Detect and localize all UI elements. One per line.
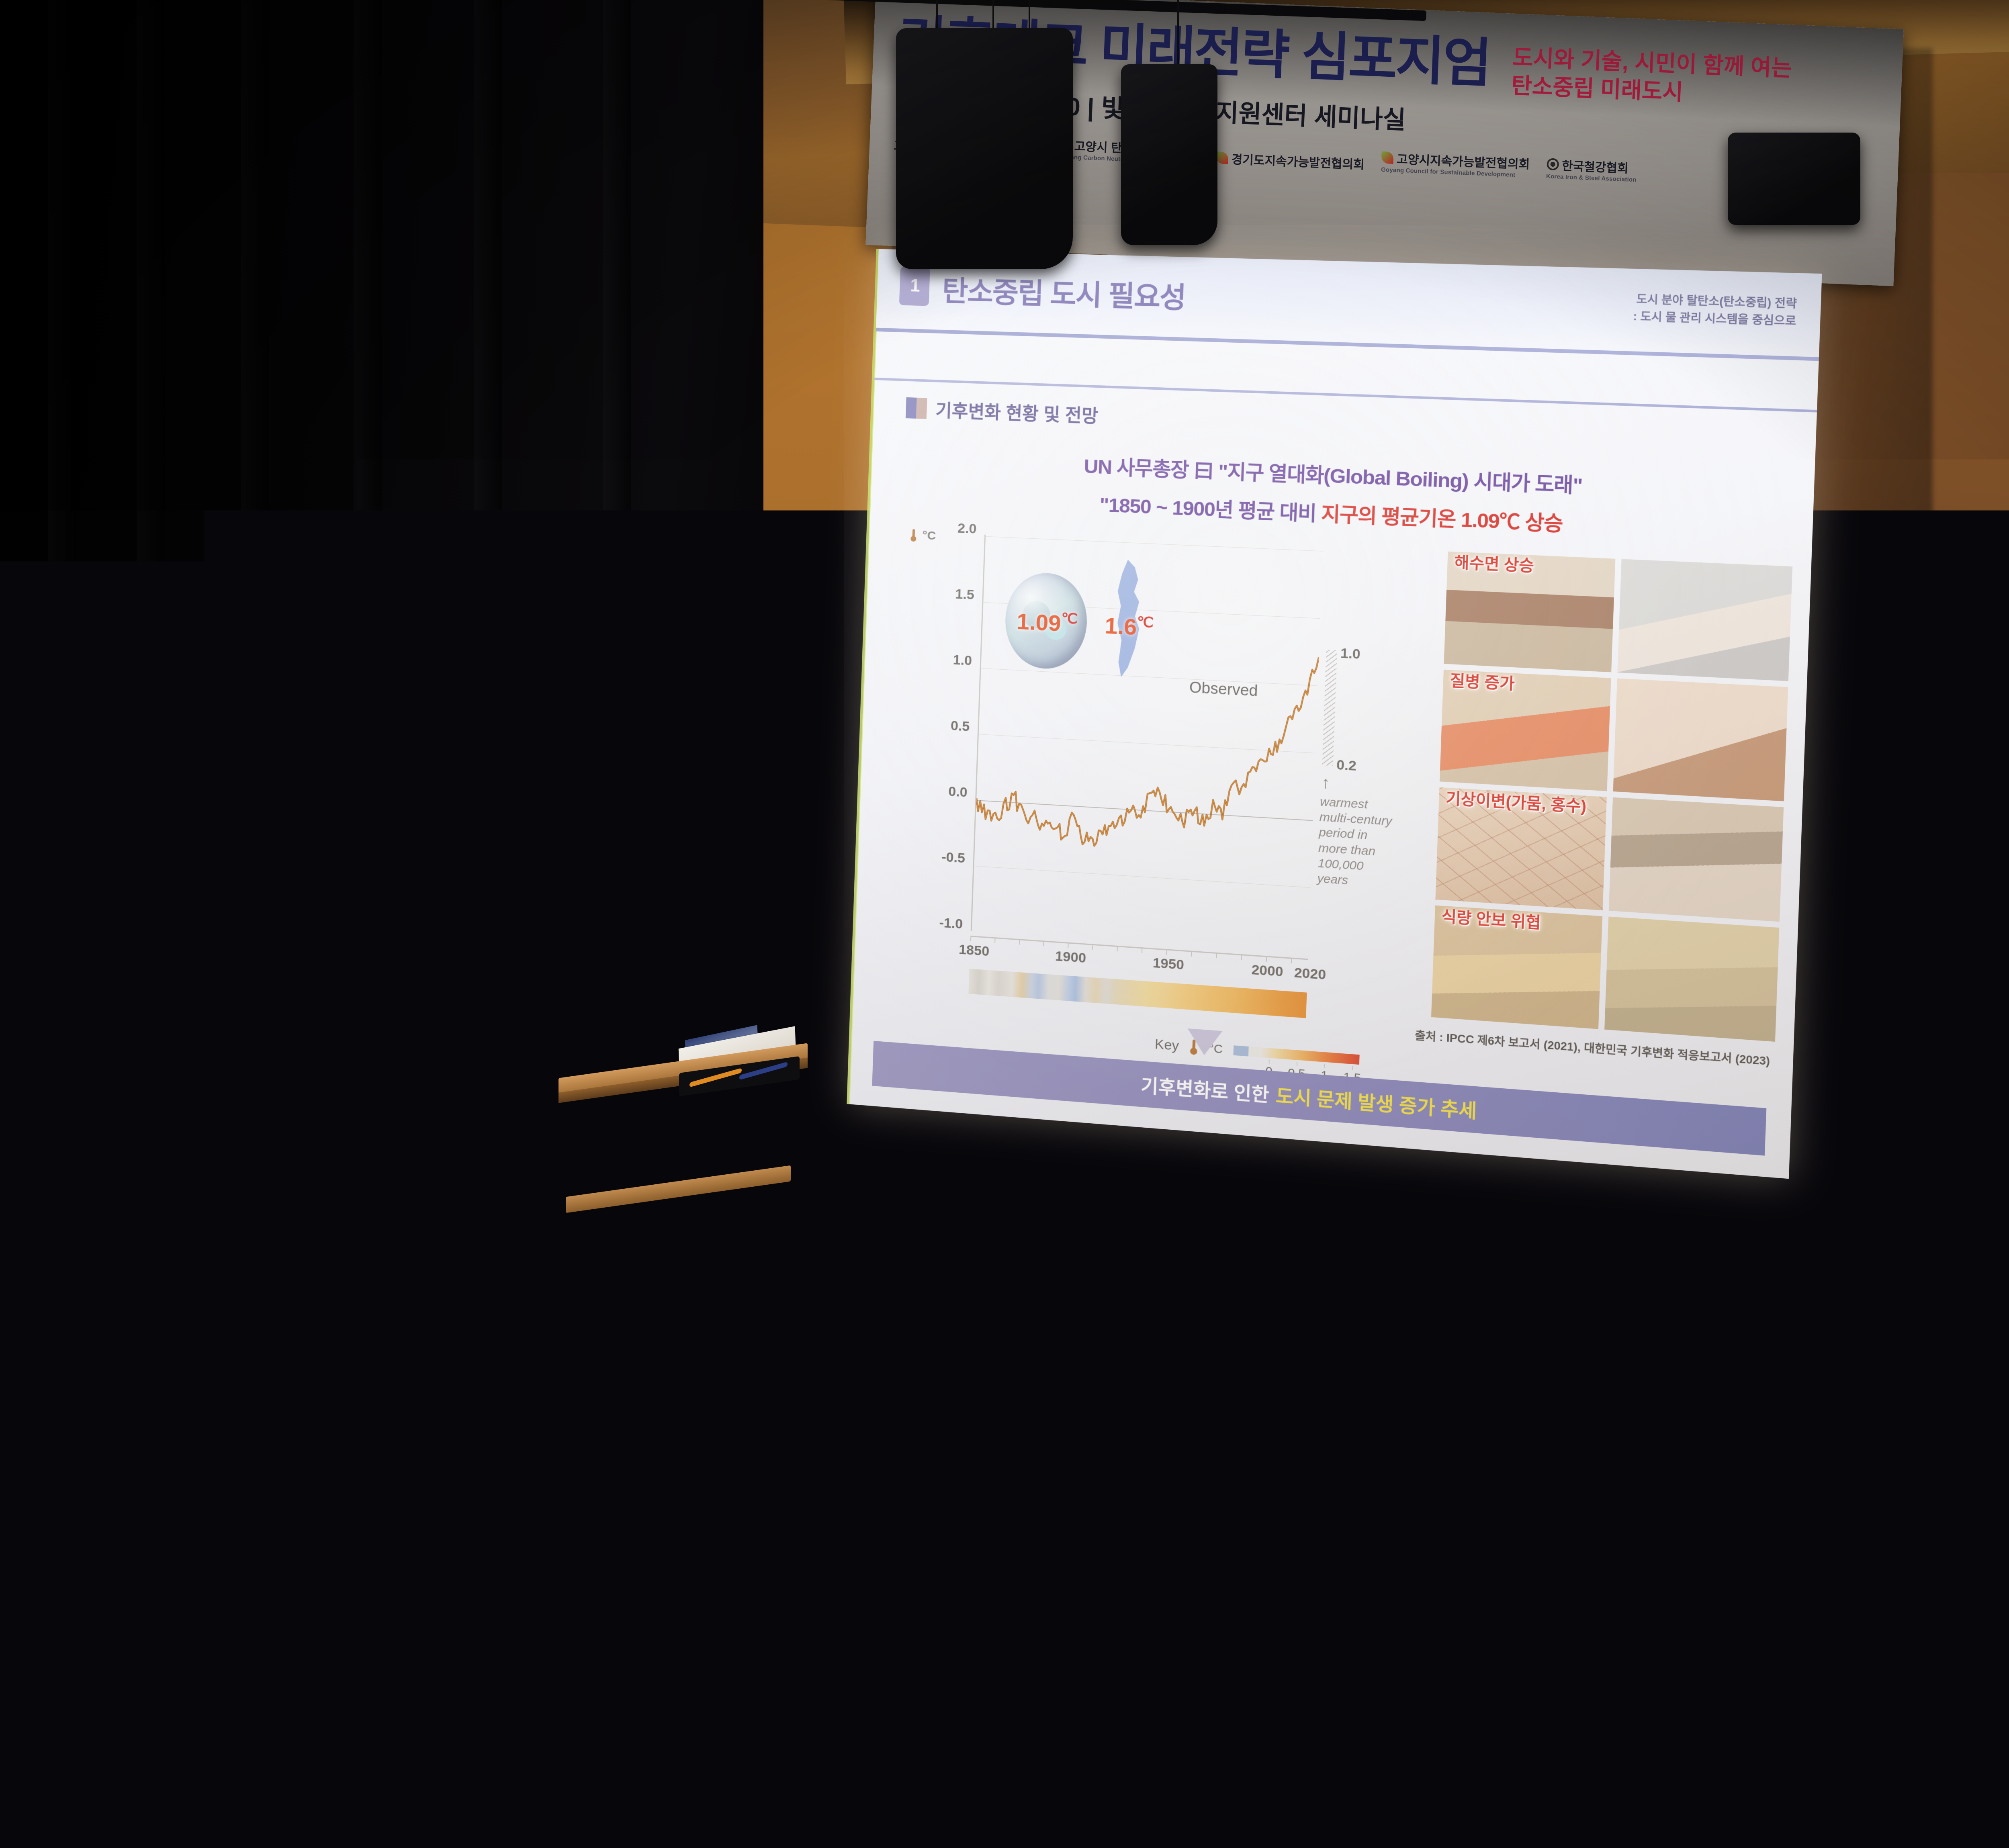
headline-line2-plain: "1850 ~ 1900년 평균 대비 [1099,494,1322,525]
chart-legend: Key °C 0 0.5 1 1.5 [1154,1036,1360,1068]
logo-gyeonggi-sustainable: 경기도지속가능발전협의회 [1216,149,1365,172]
sign-stand-leg [764,1406,776,1567]
hatch-band-icon [1322,650,1337,766]
stage-scene: 기후테크 미래전략 심포지엄 11. 27.(목) 14:00 | 빛마루방송지… [0,0,2009,1607]
y-tick: -0.5 [941,849,966,867]
slide-meta: 도시 분야 탈탄소(탄소중립) 전략 : 도시 물 관리 시스템을 중심으로 [1633,291,1797,330]
logo-goyang-sustainable: 고양시지속가능발전협의회 Goyang Council for Sustaina… [1381,148,1530,179]
photo-caption: 해수면 상승 [1454,552,1534,576]
y-tick: 0.0 [948,784,968,801]
y-tick: 2.0 [957,521,977,537]
logo-label: 경기도지속가능발전협의회 [1231,149,1365,172]
sign-logo: 고양시지속가능발전협의회 [796,1388,832,1394]
sign-poster: 기후테크 미래전략 심포지엄 도시와 기술, 시민이 함께 여는 탄소중립 미래… [748,1062,888,1404]
photo-caption: 질병 증가 [1450,669,1515,693]
temperature-line-series [972,535,1323,954]
leaf-mark-icon [1381,151,1394,164]
y-tick: 1.0 [953,652,972,669]
photo-person-in-floodwater: 질병 증가 [1440,669,1611,791]
temperature-chart: °C 2.0 1.5 1.0 0.5 0.0 -0.5 -1.0 [897,528,1395,1005]
x-tick: 2020 [1294,965,1326,983]
sign-frame: 기후테크 미래전략 심포지엄 도시와 기술, 시민이 함께 여는 탄소중립 미래… [744,1058,892,1409]
photo-mosquito [1613,678,1788,801]
legend-colorbar: 0 0.5 1 1.5 [1234,1045,1360,1065]
chart-unit-label: °C [912,528,936,543]
photo-harvest-field: 식량 안보 위협 [1431,905,1602,1029]
sign-stand-leg [869,1412,881,1572]
photo-row: 식량 안보 위협 [1431,905,1779,1042]
x-tick: 1900 [1055,949,1086,967]
projection-screen: 1 탄소중립 도시 필요성 도시 분야 탈탄소(탄소중립) 전략 : 도시 물 … [849,249,1822,1179]
range-note-text: warmest multi-century period in more tha… [1317,794,1397,891]
logo-label: 한국철강협회 [1561,156,1628,176]
photo-cracked-dry-soil: 기상이변(가뭄, 홍수) [1435,787,1606,910]
climate-impact-photo-grid: 해수면 상승 질병 증가 기상이변(가뭄, 홍수) [1431,552,1792,1042]
x-tick: 2000 [1251,962,1283,980]
presenter-shoe [607,1434,679,1455]
sign-logo-row: 경기도 고양특례시 고양연구원 고양시 탄소중립지원센터 한국철강협회 고양시지… [754,1366,876,1401]
photo-flooded-house: 해수면 상승 [1444,552,1616,672]
presentation-slide: 1 탄소중립 도시 필요성 도시 분야 탈탄소(탄소중립) 전략 : 도시 물 … [849,249,1822,1179]
sign-when-where: 2025. 11. 27.(목) 14:00 빛마루방송지원센터 세미나실 [766,1277,875,1298]
microphone-band-icon [657,966,675,975]
photo-row: 질병 증가 [1440,669,1788,801]
warmest-period-annotation: 1.0 0.2 ↑ warmest multi-century period i… [1323,650,1397,653]
sign-stand-caster [869,1568,886,1585]
photo-row: 해수면 상승 [1444,552,1793,681]
stage-spotlight [1728,133,1860,225]
quote-mark-icon [810,1072,832,1087]
stage-spotlight [1121,64,1217,245]
x-tick: 1950 [1152,955,1184,973]
chart-unit-text: °C [922,529,936,543]
quote-mark-icon [804,1199,826,1213]
range-bottom-value: 0.2 [1336,757,1357,774]
photo-flooded-street [1609,797,1784,922]
slide-number-badge: 1 [899,266,930,306]
section-label: 기후변화 현황 및 전망 [935,396,1099,427]
sign-logo: 고양특례시 [775,1373,790,1378]
chart-y-axis: 2.0 1.5 1.0 0.5 0.0 -0.5 -1.0 [923,526,980,932]
sign-logo: 고양연구원 [794,1374,808,1379]
slide-number: 1 [910,276,920,296]
x-tick: 1850 [959,942,990,959]
range-top-value: 1.0 [1340,645,1360,662]
sign-logo: 한국철강협회 [849,1376,867,1381]
section-marker-icon [906,397,927,419]
circle-mark-icon [1547,158,1559,170]
thermometer-icon [910,529,917,542]
down-arrow-icon [1187,1028,1223,1057]
leaf-mark-icon [1216,151,1228,164]
sign-stand-caster [763,1564,779,1580]
footer-highlight-text: 도시 문제 발생 증가 추세 [1275,1081,1477,1123]
sign-logo: 경기도 [763,1372,772,1377]
presenter-hair [575,782,671,850]
photo-flooded-rice-paddy [1604,916,1779,1042]
chart-plot-area: 1.09℃ 1.6℃ Observed [971,535,1323,954]
headline-line2-red: 지구의 평균기온 1.09℃ 상승 [1321,503,1563,536]
legend-label: Key [1154,1036,1179,1054]
glasses-icon [637,824,676,838]
stage-spotlight [896,28,1073,269]
slide-headline: UN 사무총장 曰 "지구 열대화(Global Boiling) 시대가 도래… [870,442,1815,548]
sign-subtitle: 도시와 기술, 시민이 함께 여는 탄소중립 미래도시 [765,1236,878,1276]
sign-logo: 고양시 탄소중립지원센터 [812,1374,846,1380]
sign-title-line3: 심포지엄 [776,1157,874,1185]
footer-plain-text: 기후변화로 인한 [1140,1071,1270,1108]
logo-korea-iron-steel: 한국철강협회 Korea Iron & Steel Association [1546,155,1637,183]
sign-subtitle-line1: 도시와 기술, 시민이 함께 여는 [765,1236,878,1263]
y-tick: 0.5 [950,718,970,735]
y-tick: 1.5 [955,586,975,603]
photo-row: 기상이변(가뭄, 홍수) [1435,787,1784,922]
photo-polar-bear [1617,559,1792,681]
y-tick: -1.0 [939,915,963,932]
presenter-hand-holding-mic [653,978,694,1030]
up-arrow-icon: ↑ [1321,773,1330,792]
slide-section: 기후변화 현황 및 전망 [906,395,1099,428]
standing-sign: 기후테크 미래전략 심포지엄 도시와 기술, 시민이 함께 여는 탄소중립 미래… [751,1061,920,1559]
sign-title: 기후테크 미래전략 심포지엄 [776,1112,876,1185]
